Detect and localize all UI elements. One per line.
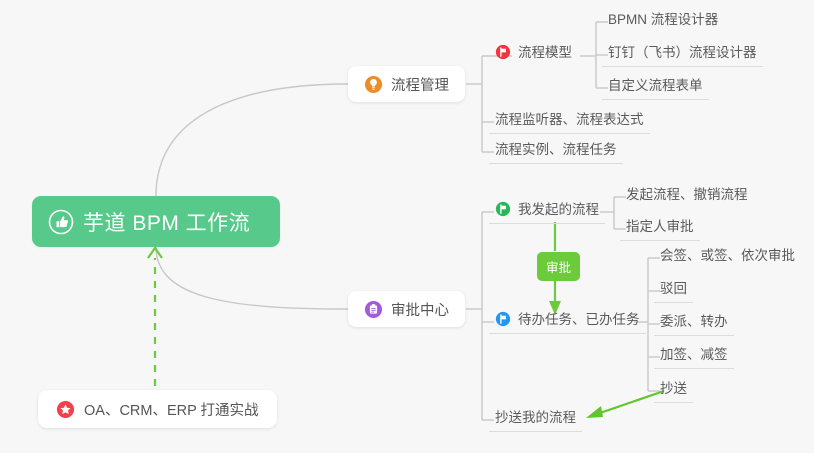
leaf-carbon-copy[interactable]: 抄送 xyxy=(654,380,693,403)
node-label-my-initiated-process: 我发起的流程 xyxy=(518,201,599,218)
leaf-process-instance[interactable]: 流程实例、流程任务 xyxy=(489,141,623,164)
mindmap-canvas: 芋道 BPM 工作流 流程管理 流程模型 BPMN 流程设计器 钉钉（飞书 xyxy=(0,0,814,453)
node-label-todo-done-tasks: 待办任务、已办任务 xyxy=(518,311,640,328)
annotation-badge-approve: 审批 xyxy=(537,252,580,281)
leaf-process-listener[interactable]: 流程监听器、流程表达式 xyxy=(489,111,650,134)
leaf-label-bpmn-designer: BPMN 流程设计器 xyxy=(608,11,718,28)
lightbulb-icon xyxy=(364,75,383,94)
leaf-label-dingtalk-designer: 钉钉（飞书）流程设计器 xyxy=(608,44,757,61)
leaf-start-cancel-process[interactable]: 发起流程、撤销流程 xyxy=(620,186,754,208)
wire-root-to-process-management xyxy=(156,84,348,196)
node-my-initiated-process[interactable]: 我发起的流程 xyxy=(489,201,605,224)
branch-node-approval-center[interactable]: 审批中心 xyxy=(348,291,465,327)
leaf-label-delegate-transfer: 委派、转办 xyxy=(660,313,728,330)
star-icon xyxy=(56,400,75,419)
root-label: 芋道 BPM 工作流 xyxy=(83,207,250,237)
leaf-dingtalk-designer[interactable]: 钉钉（飞书）流程设计器 xyxy=(602,44,763,67)
arrow-cc-head xyxy=(586,406,603,418)
leaf-label-process-instance: 流程实例、流程任务 xyxy=(495,141,617,158)
leaf-label-assignee-approval: 指定人审批 xyxy=(626,218,694,235)
leaf-label-cc-to-me-process: 抄送我的流程 xyxy=(495,409,576,426)
leaf-label-start-cancel-process: 发起流程、撤销流程 xyxy=(626,186,748,203)
node-process-model[interactable]: 流程模型 xyxy=(489,44,578,66)
leaf-label-reject: 驳回 xyxy=(660,280,687,297)
branch-label-process-management: 流程管理 xyxy=(391,74,449,95)
clipboard-icon xyxy=(364,300,383,319)
node-label-process-model: 流程模型 xyxy=(518,44,572,61)
leaf-reject[interactable]: 驳回 xyxy=(654,280,693,303)
leaf-cc-to-me-process[interactable]: 抄送我的流程 xyxy=(489,409,582,432)
flag-icon-blue xyxy=(495,311,511,327)
leaf-label-countersign: 会签、或签、依次审批 xyxy=(660,247,795,264)
wire-root-to-approval-center xyxy=(156,247,348,309)
flag-icon-green xyxy=(495,201,511,217)
leaf-label-custom-form: 自定义流程表单 xyxy=(608,77,703,94)
root-node[interactable]: 芋道 BPM 工作流 xyxy=(32,196,280,247)
leaf-assignee-approval[interactable]: 指定人审批 xyxy=(620,218,700,241)
arrow-bottom-head xyxy=(148,248,162,258)
flag-icon-red xyxy=(495,44,511,60)
bottom-node-integration[interactable]: OA、CRM、ERP 打通实战 xyxy=(38,390,277,428)
leaf-label-process-listener: 流程监听器、流程表达式 xyxy=(495,111,644,128)
leaf-countersign[interactable]: 会签、或签、依次审批 xyxy=(654,247,801,269)
leaf-bpmn-designer[interactable]: BPMN 流程设计器 xyxy=(602,11,724,33)
node-todo-done-tasks[interactable]: 待办任务、已办任务 xyxy=(489,311,646,334)
branch-label-approval-center: 审批中心 xyxy=(391,299,449,320)
bottom-node-label: OA、CRM、ERP 打通实战 xyxy=(84,399,259,420)
leaf-add-remove-sign[interactable]: 加签、减签 xyxy=(654,346,734,369)
leaf-custom-form[interactable]: 自定义流程表单 xyxy=(602,77,709,100)
leaf-delegate-transfer[interactable]: 委派、转办 xyxy=(654,313,734,336)
branch-node-process-management[interactable]: 流程管理 xyxy=(348,66,465,102)
leaf-label-add-remove-sign: 加签、减签 xyxy=(660,346,728,363)
annotation-badge-approve-label: 审批 xyxy=(546,261,571,275)
leaf-label-carbon-copy: 抄送 xyxy=(660,380,687,397)
thumbs-up-icon xyxy=(48,209,74,235)
